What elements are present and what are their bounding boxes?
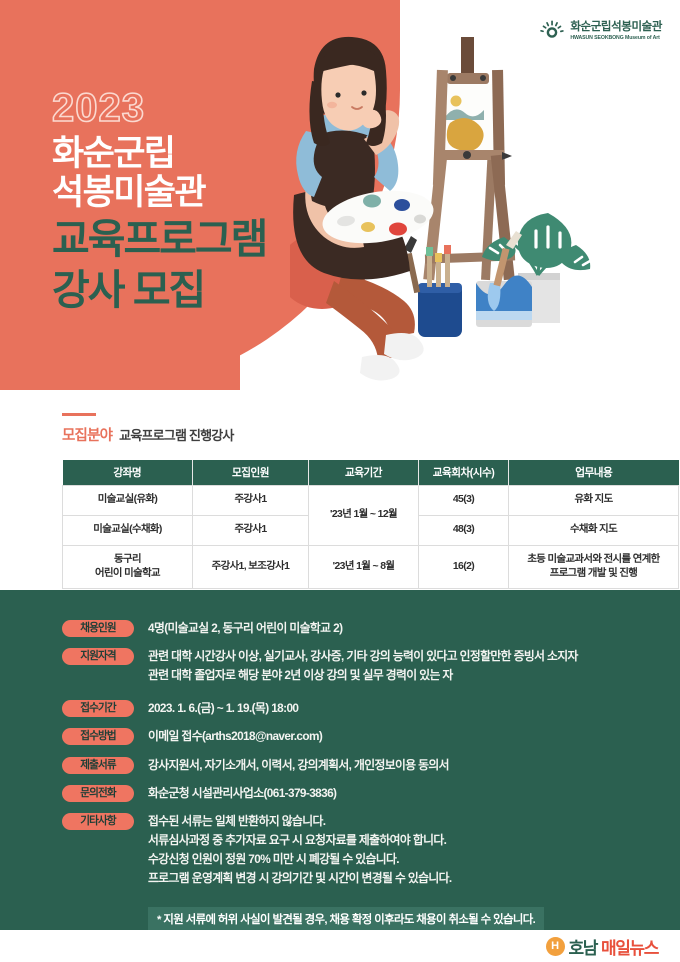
table-row: 미술교실(유화) 주강사1 '23년 1월 ~ 12월 45(3) 유화 지도 [63, 486, 679, 516]
publisher-logo-glyph: H [551, 941, 559, 952]
poster-root: 화순군립석봉미술관 HWASUN SEOKBONG Museum of Art [0, 0, 680, 962]
table-header-period: 교육기간 [309, 460, 419, 486]
detail-badge: 채용인원 [62, 620, 134, 637]
detail-value: 관련 대학 시간강사 이상, 실기교사, 강사증, 기타 강의 능력이 있다고 … [148, 647, 578, 685]
cell-people: 주강사1 [193, 516, 309, 546]
cell-duty: 수채화 지도 [509, 516, 679, 546]
program-table-section: 모집분야 교육프로그램 진행강사 강좌명 모집인원 교육기간 교육회차(시수) … [0, 398, 680, 590]
detail-badge: 지원자격 [62, 648, 134, 665]
cell-sessions: 48(3) [419, 516, 509, 546]
cell-duty-line2: 프로그램 개발 및 진행 [511, 567, 676, 581]
cell-sessions: 45(3) [419, 486, 509, 516]
poster-headline: 2023 화순군립 석봉미술관 교육프로그램 강사 모집 [52, 88, 266, 314]
detail-value: 4명(미술교실 2, 동구리 어린이 미술학교 2) [148, 619, 342, 638]
detail-row-qualifications: 지원자격 관련 대학 시간강사 이상, 실기교사, 강사증, 기타 강의 능력이… [62, 647, 622, 685]
table-header-people: 모집인원 [193, 460, 309, 486]
disclaimer-note: * 지원 서류에 허위 사실이 발견될 경우, 채용 확정 이후라도 채용이 취… [148, 907, 544, 931]
headline-line-1: 화순군립 [52, 134, 266, 173]
publisher-logo-icon: H [546, 937, 565, 956]
details-list: 채용인원 4명(미술교실 2, 동구리 어린이 미술학교 2) 지원자격 관련 … [62, 619, 622, 931]
detail-row-application-method: 접수방법 이메일 접수(arths2018@naver.com) [62, 727, 622, 746]
program-table: 강좌명 모집인원 교육기간 교육회차(시수) 업무내용 미술교실(유화) 주강사… [62, 460, 679, 589]
cell-course: 미술교실(유화) [63, 486, 193, 516]
detail-line: 화순군청 시설관리사업소(061-379-3836) [148, 784, 336, 803]
detail-badge: 기타사항 [62, 813, 134, 830]
table-header-duty: 업무내용 [509, 460, 679, 486]
detail-value: 2023. 1. 6.(금) ~ 1. 19.(목) 18:00 [148, 699, 298, 718]
publisher-name-part1: 호남 [569, 934, 597, 959]
detail-row-application-period: 접수기간 2023. 1. 6.(금) ~ 1. 19.(목) 18:00 [62, 699, 622, 718]
cell-course-line1: 동구리 [65, 553, 190, 567]
detail-badge: 접수방법 [62, 728, 134, 745]
cell-duty-line1: 초등 미술교과서와 전시를 연계한 [511, 553, 676, 567]
detail-row-hiring-count: 채용인원 4명(미술교실 2, 동구리 어린이 미술학교 2) [62, 619, 622, 638]
detail-row-other: 기타사항 접수된 서류는 일체 반환하지 않습니다. 서류심사과정 중 추가자료… [62, 812, 622, 888]
cell-duty: 유화 지도 [509, 486, 679, 516]
section-subtitle: 교육프로그램 진행강사 [119, 425, 233, 444]
cell-people: 주강사1 [193, 486, 309, 516]
recruitment-details-section: 채용인원 4명(미술교실 2, 동구리 어린이 미술학교 2) 지원자격 관련 … [0, 590, 680, 930]
section-label: 모집분야 [62, 424, 112, 445]
cell-course: 동구리 어린이 미술학교 [63, 546, 193, 589]
detail-line: 관련 대학 시간강사 이상, 실기교사, 강사증, 기타 강의 능력이 있다고 … [148, 647, 578, 666]
detail-value: 이메일 접수(arths2018@naver.com) [148, 727, 322, 746]
illustration-artist-at-easel [290, 35, 660, 385]
detail-badge: 문의전화 [62, 785, 134, 802]
headline-line-2: 석봉미술관 [52, 173, 266, 212]
cell-course-line2: 어린이 미술학교 [65, 567, 190, 581]
detail-line: 2023. 1. 6.(금) ~ 1. 19.(목) 18:00 [148, 699, 298, 718]
headline-line-4: 강사 모집 [52, 267, 266, 314]
detail-line: 강사지원서, 자기소개서, 이력서, 강의계획서, 개인정보이용 동의서 [148, 756, 449, 775]
publisher-logo: H 호남 매일뉴스 [546, 934, 658, 959]
detail-line: 서류심사과정 중 추가자료 요구 시 요청자료를 제출하여야 합니다. [148, 831, 452, 850]
cell-duty: 초등 미술교과서와 전시를 연계한 프로그램 개발 및 진행 [509, 546, 679, 589]
cell-period: '23년 1월 ~ 12월 [309, 486, 419, 546]
table-header-course: 강좌명 [63, 460, 193, 486]
footer-bar: H 호남 매일뉴스 [0, 930, 680, 962]
table-header-row: 강좌명 모집인원 교육기간 교육회차(시수) 업무내용 [63, 460, 679, 486]
detail-line: 접수된 서류는 일체 반환하지 않습니다. [148, 812, 452, 831]
headline-year: 2023 [52, 88, 266, 128]
cell-course: 미술교실(수채화) [63, 516, 193, 546]
detail-value: 접수된 서류는 일체 반환하지 않습니다. 서류심사과정 중 추가자료 요구 시… [148, 812, 452, 888]
detail-row-documents: 제출서류 강사지원서, 자기소개서, 이력서, 강의계획서, 개인정보이용 동의… [62, 756, 622, 775]
detail-line: 관련 대학 졸업자로 해당 분야 2년 이상 강의 및 실무 경력이 있는 자 [148, 666, 578, 685]
detail-value: 강사지원서, 자기소개서, 이력서, 강의계획서, 개인정보이용 동의서 [148, 756, 449, 775]
section-heading: 모집분야 교육프로그램 진행강사 [62, 424, 234, 445]
detail-badge: 제출서류 [62, 757, 134, 774]
detail-line: 수강신청 인원이 정원 70% 미만 시 폐강될 수 있습니다. [148, 850, 452, 869]
detail-row-contact: 문의전화 화순군청 시설관리사업소(061-379-3836) [62, 784, 622, 803]
museum-name-kr: 화순군립석봉미술관 [570, 22, 662, 34]
detail-value: 화순군청 시설관리사업소(061-379-3836) [148, 784, 336, 803]
table-row: 동구리 어린이 미술학교 주강사1, 보조강사1 '23년 1월 ~ 8월 16… [63, 546, 679, 589]
cell-people: 주강사1, 보조강사1 [193, 546, 309, 589]
headline-line-3: 교육프로그램 [52, 216, 266, 263]
table-header-sessions: 교육회차(시수) [419, 460, 509, 486]
cell-sessions: 16(2) [419, 546, 509, 589]
detail-line: 4명(미술교실 2, 동구리 어린이 미술학교 2) [148, 619, 342, 638]
cell-period: '23년 1월 ~ 8월 [309, 546, 419, 589]
detail-badge: 접수기간 [62, 700, 134, 717]
hero-section: 화순군립석봉미술관 HWASUN SEOKBONG Museum of Art [0, 0, 680, 400]
publisher-name-part2: 매일뉴스 [601, 934, 658, 959]
detail-line: 프로그램 운영계획 변경 시 강의기간 및 시간이 변경될 수 있습니다. [148, 869, 452, 888]
detail-line: 이메일 접수(arths2018@naver.com) [148, 727, 322, 746]
